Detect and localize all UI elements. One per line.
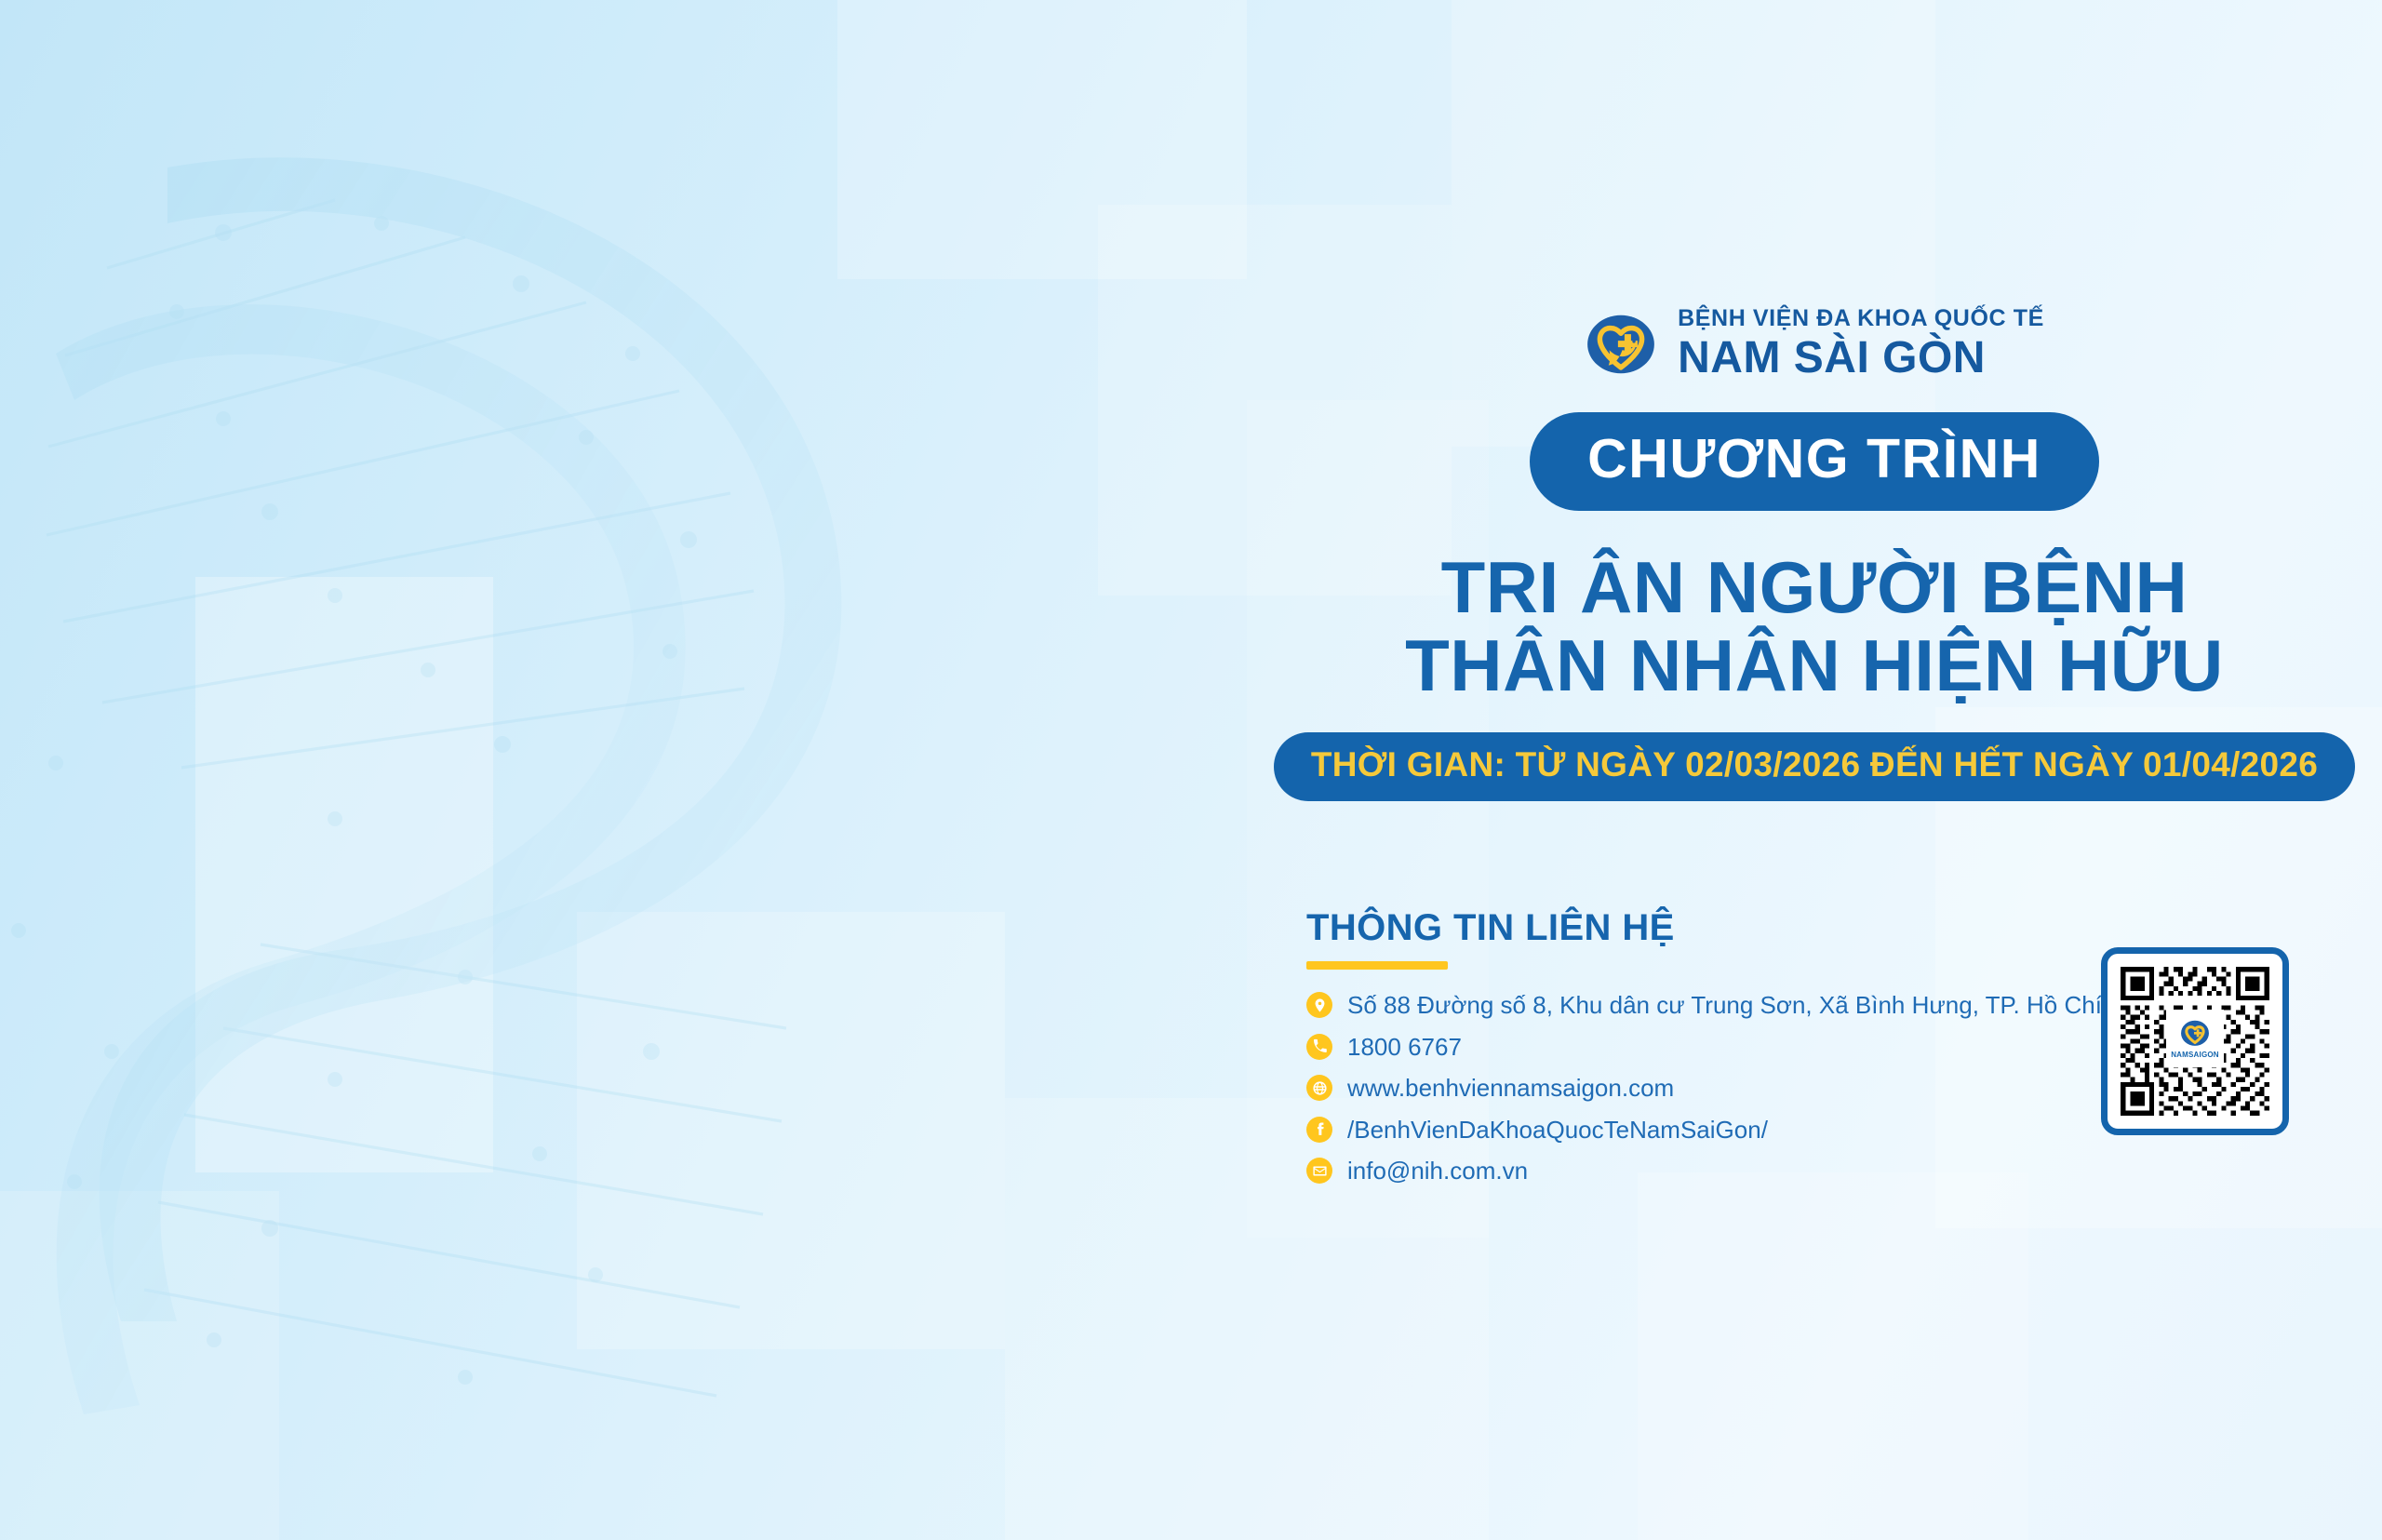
envelope-icon bbox=[1306, 1158, 1332, 1184]
poster-canvas: BỆNH VIỆN ĐA KHOA QUỐC TẾ NAM SÀI GÒN CH… bbox=[0, 0, 2382, 1540]
contact-facebook-text: /BenhVienDaKhoaQuocTeNamSaiGon/ bbox=[1347, 1115, 1768, 1145]
logo-line-1: BỆNH VIỆN ĐA KHOA QUỐC TẾ bbox=[1678, 307, 2044, 330]
phone-icon bbox=[1306, 1034, 1332, 1060]
dna-helix-watermark bbox=[0, 112, 930, 1433]
hospital-logo: BỆNH VIỆN ĐA KHOA QUỐC TẾ NAM SÀI GÒN bbox=[1284, 307, 2345, 381]
content-column: BỆNH VIỆN ĐA KHOA QUỐC TẾ NAM SÀI GÒN CH… bbox=[1284, 307, 2345, 801]
page-title: TRI ÂN NGƯỜI BỆNH THÂN NHÂN HIỆN HỮU bbox=[1284, 548, 2345, 704]
facebook-icon bbox=[1306, 1117, 1332, 1143]
contact-email-text: info@nih.com.vn bbox=[1347, 1156, 1528, 1186]
qr-code[interactable]: NAMSAIGON bbox=[2101, 947, 2289, 1135]
headline-line-1: TRI ÂN NGƯỜI BỆNH bbox=[1284, 548, 2345, 626]
contact-row-phone[interactable]: 1800 6767 bbox=[1306, 1032, 2144, 1063]
contact-website-text: www.benhviennamsaigon.com bbox=[1347, 1073, 1674, 1104]
contact-title-underline bbox=[1306, 961, 1448, 970]
contact-row-email[interactable]: info@nih.com.vn bbox=[1306, 1156, 2144, 1186]
contact-section: THÔNG TIN LIÊN HỆ Số 88 Đường số 8, Khu … bbox=[1306, 907, 2144, 1198]
heart-dove-cross-logo-icon bbox=[2179, 1018, 2211, 1050]
contact-row-address: Số 88 Đường số 8, Khu dân cư Trung Sơn, … bbox=[1306, 990, 2144, 1021]
contact-row-facebook[interactable]: /BenhVienDaKhoaQuocTeNamSaiGon/ bbox=[1306, 1115, 2144, 1145]
headline-line-2: THÂN NHÂN HIỆN HỮU bbox=[1284, 626, 2345, 704]
contact-row-website[interactable]: www.benhviennamsaigon.com bbox=[1306, 1073, 2144, 1104]
date-banner: THỜI GIAN: TỪ NGÀY 02/03/2026 ĐẾN HẾT NG… bbox=[1274, 732, 2355, 801]
contact-title: THÔNG TIN LIÊN HỆ bbox=[1306, 907, 2144, 949]
qr-center-logo: NAMSAIGON bbox=[2166, 1010, 2224, 1067]
contact-address-text: Số 88 Đường số 8, Khu dân cư Trung Sơn, … bbox=[1347, 990, 2168, 1021]
qr-center-label: NAMSAIGON bbox=[2171, 1051, 2219, 1059]
contact-phone-text: 1800 6767 bbox=[1347, 1032, 1462, 1063]
heart-dove-cross-logo-icon bbox=[1585, 308, 1657, 381]
location-pin-icon bbox=[1306, 992, 1332, 1018]
logo-line-2: NAM SÀI GÒN bbox=[1678, 336, 2044, 381]
globe-icon bbox=[1306, 1075, 1332, 1101]
program-badge: CHƯƠNG TRÌNH bbox=[1530, 412, 2099, 511]
